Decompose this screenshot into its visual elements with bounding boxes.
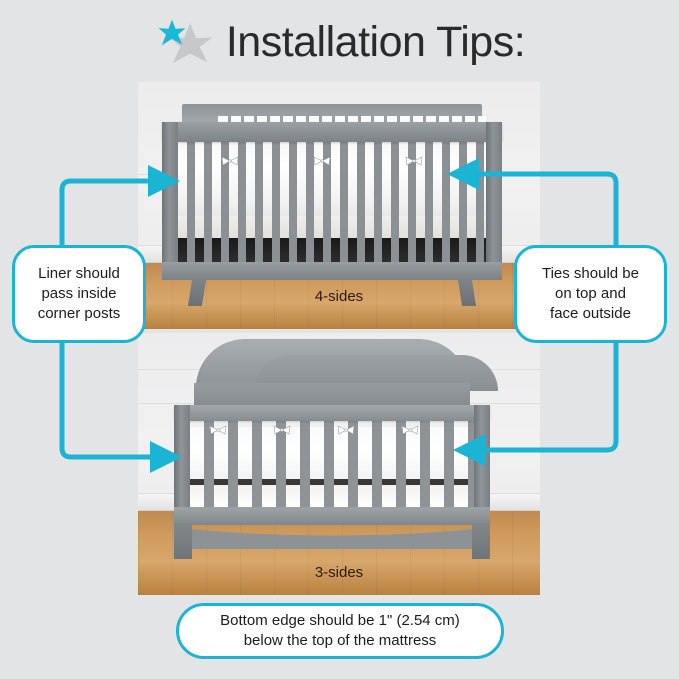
callout-line: on top and	[542, 284, 639, 304]
arrow-right-to-bottom-crib-head	[453, 434, 485, 466]
arrow-left-to-top-crib-head	[148, 165, 180, 197]
arrow-right-to-top-crib-head	[447, 158, 479, 190]
callout-line: face outside	[542, 304, 639, 324]
callout-ties-on-top[interactable]: Ties should be on top and face outside	[514, 245, 667, 343]
callout-line: Bottom edge should be 1" (2.54 cm)	[220, 611, 460, 631]
arrow-left-to-bottom-crib-head	[150, 441, 182, 473]
callout-line: corner posts	[38, 304, 121, 324]
arrow-right-to-bottom-crib-line	[483, 341, 616, 450]
callout-bottom-edge-mattress[interactable]: Bottom edge should be 1" (2.54 cm) below…	[176, 603, 504, 659]
callout-line: Ties should be	[542, 264, 639, 284]
callout-line: pass inside	[38, 284, 121, 304]
callout-line: Liner should	[38, 264, 121, 284]
installation-tips-infographic: Installation Tips:	[0, 0, 679, 679]
arrow-left-to-bottom-crib-line	[62, 341, 152, 457]
callout-line: below the top of the mattress	[220, 631, 460, 651]
arrow-left-to-top-crib-line	[62, 181, 150, 248]
arrow-right-to-top-crib-line	[477, 174, 616, 248]
callout-liner-corner-posts[interactable]: Liner should pass inside corner posts	[12, 245, 146, 343]
